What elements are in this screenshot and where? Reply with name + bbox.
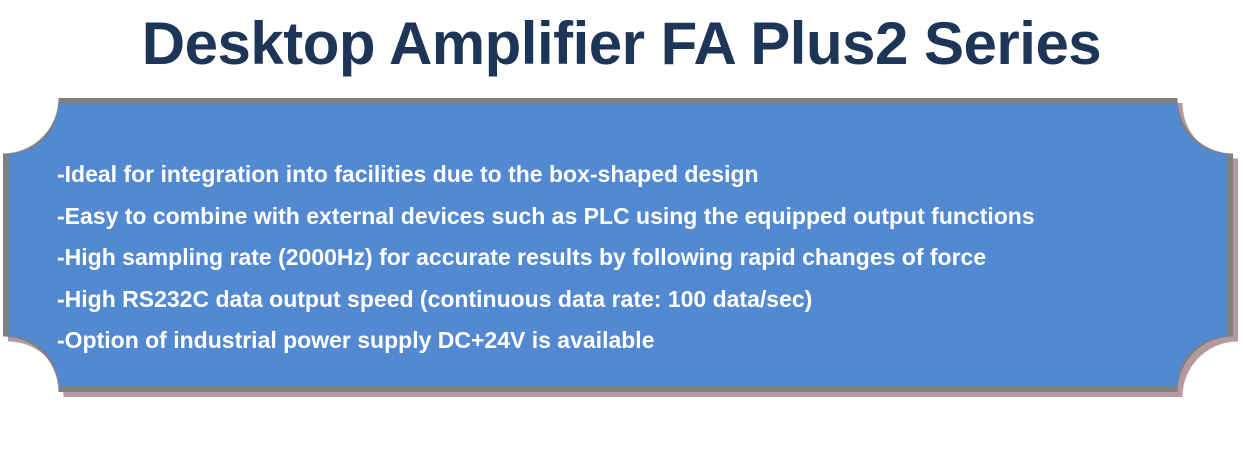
page-title: Desktop Amplifier FA Plus2 Series [0,8,1243,80]
list-item: -High sampling rate (2000Hz) for accurat… [57,237,1187,279]
list-item: -High RS232C data output speed (continuo… [57,279,1187,321]
list-item: -Easy to combine with external devices s… [57,196,1187,238]
list-item: -Option of industrial power supply DC+24… [57,320,1187,362]
list-item: -Ideal for integration into facilities d… [57,154,1187,196]
feature-bullet-list: -Ideal for integration into facilities d… [57,154,1187,362]
callout-panel: -Ideal for integration into facilities d… [3,98,1237,396]
